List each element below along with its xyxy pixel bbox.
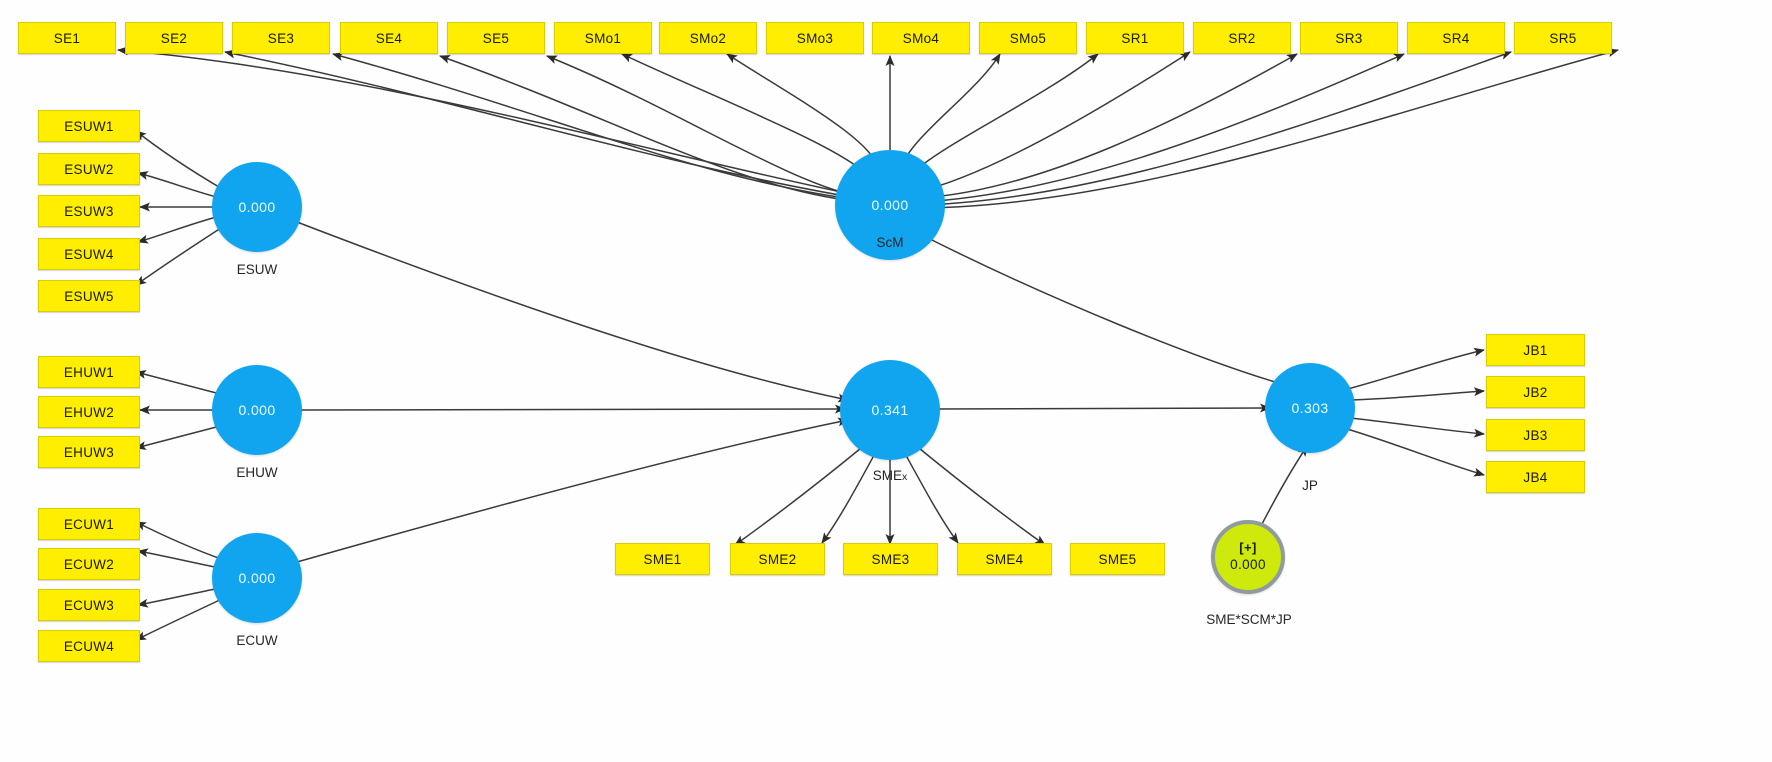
indicator-box[interactable]: SR1 — [1086, 22, 1184, 54]
latent-label-ehuw: EHUW — [202, 465, 312, 480]
indicator-label: SME4 — [986, 552, 1024, 567]
latent-label-esuw: ESUW — [202, 262, 312, 277]
latent-label-smex: SMEx — [835, 468, 945, 483]
indicator-label: SR5 — [1549, 31, 1576, 46]
indicator-label: ECUW2 — [64, 557, 114, 572]
indicator-label: SE1 — [54, 31, 80, 46]
indicator-label: ESUW2 — [64, 162, 114, 177]
latent-name: ECUW — [236, 633, 277, 648]
indicator-label: EHUW2 — [64, 405, 114, 420]
indicator-label: SR1 — [1121, 31, 1148, 46]
latent-name: EHUW — [236, 465, 277, 480]
indicator-box[interactable]: JB3 — [1486, 419, 1585, 451]
indicator-box[interactable]: ECUW3 — [38, 589, 140, 621]
moderator-label: SME*SCM*JP — [1164, 612, 1334, 627]
indicator-box[interactable]: ECUW2 — [38, 548, 140, 580]
latent-value: 0.303 — [1291, 400, 1328, 416]
indicator-label: ESUW4 — [64, 247, 114, 262]
indicator-box[interactable]: EHUW2 — [38, 396, 140, 428]
indicator-label: SR3 — [1335, 31, 1362, 46]
indicator-label: SME1 — [644, 552, 682, 567]
indicator-label: ESUW3 — [64, 204, 114, 219]
indicator-label: SME3 — [872, 552, 910, 567]
latent-node-ecuw[interactable]: 0.000 — [212, 533, 302, 623]
indicator-label: ECUW1 — [64, 517, 114, 532]
indicator-label: SE3 — [268, 31, 294, 46]
indicator-box[interactable]: SMo4 — [872, 22, 970, 54]
moderator-value: 0.000 — [1230, 557, 1266, 573]
indicator-label: EHUW1 — [64, 365, 114, 380]
indicator-label: EHUW3 — [64, 445, 114, 460]
indicator-box[interactable]: JB4 — [1486, 461, 1585, 493]
moderator-node[interactable]: [+] 0.000 — [1211, 520, 1285, 594]
latent-label-ecuw: ECUW — [202, 633, 312, 648]
indicator-box[interactable]: SMo2 — [659, 22, 757, 54]
latent-value: 0.341 — [871, 402, 908, 418]
indicator-box[interactable]: SME4 — [957, 543, 1052, 575]
indicator-label: SR4 — [1442, 31, 1469, 46]
indicator-box[interactable]: SR5 — [1514, 22, 1612, 54]
latent-node-ehuw[interactable]: 0.000 — [212, 365, 302, 455]
latent-label-jp: JP — [1255, 478, 1365, 493]
indicator-box[interactable]: SE5 — [447, 22, 545, 54]
latent-value: 0.000 — [238, 199, 275, 215]
indicator-box[interactable]: EHUW3 — [38, 436, 140, 468]
indicator-label: SME2 — [759, 552, 797, 567]
indicator-label: SME5 — [1099, 552, 1137, 567]
indicator-label: JB2 — [1523, 385, 1547, 400]
indicator-label: ECUW4 — [64, 639, 114, 654]
indicator-box[interactable]: SE3 — [232, 22, 330, 54]
latent-node-smex[interactable]: 0.341 — [840, 360, 940, 460]
latent-name: SME — [873, 468, 902, 483]
moderator-sign: [+] — [1239, 541, 1256, 556]
indicator-label: SE5 — [483, 31, 509, 46]
indicator-box[interactable]: SMo3 — [766, 22, 864, 54]
indicator-label: JB3 — [1523, 428, 1547, 443]
indicator-label: SMo1 — [585, 31, 621, 46]
indicator-box[interactable]: SR3 — [1300, 22, 1398, 54]
indicator-box[interactable]: SMo1 — [554, 22, 652, 54]
indicator-box[interactable]: EHUW1 — [38, 356, 140, 388]
indicator-box[interactable]: SR4 — [1407, 22, 1505, 54]
latent-node-esuw[interactable]: 0.000 — [212, 162, 302, 252]
indicator-box[interactable]: ESUW4 — [38, 238, 140, 270]
indicator-box[interactable]: SME3 — [843, 543, 938, 575]
indicator-label: SMo4 — [903, 31, 939, 46]
indicator-box[interactable]: JB2 — [1486, 376, 1585, 408]
indicator-label: SMo5 — [1010, 31, 1046, 46]
indicator-box[interactable]: SMo5 — [979, 22, 1077, 54]
indicator-box[interactable]: SE2 — [125, 22, 223, 54]
indicator-label: JB1 — [1523, 343, 1547, 358]
latent-label-scm: ScM — [835, 235, 945, 250]
indicator-box[interactable]: ESUW2 — [38, 153, 140, 185]
indicator-box[interactable]: SE1 — [18, 22, 116, 54]
indicator-box[interactable]: SME5 — [1070, 543, 1165, 575]
latent-value: 0.000 — [238, 402, 275, 418]
indicator-label: SE4 — [376, 31, 402, 46]
indicator-box[interactable]: SE4 — [340, 22, 438, 54]
moderator-name: SME*SCM*JP — [1206, 612, 1292, 627]
indicator-box[interactable]: ESUW1 — [38, 110, 140, 142]
indicator-label: SE2 — [161, 31, 187, 46]
indicator-label: JB4 — [1523, 470, 1547, 485]
latent-name: ESUW — [237, 262, 278, 277]
indicator-label: ECUW3 — [64, 598, 114, 613]
latent-value: 0.000 — [238, 570, 275, 586]
indicator-box[interactable]: ESUW5 — [38, 280, 140, 312]
indicator-box[interactable]: SME1 — [615, 543, 710, 575]
latent-name: ScM — [877, 235, 904, 250]
indicator-box[interactable]: JB1 — [1486, 334, 1585, 366]
indicator-label: ESUW1 — [64, 119, 114, 134]
latent-name: JP — [1302, 478, 1318, 493]
sem-diagram-canvas: SE1 SE2 SE3 SE4 SE5 SMo1 SMo2 SMo3 SMo4 … — [0, 0, 1772, 762]
indicator-box[interactable]: ESUW3 — [38, 195, 140, 227]
latent-node-jp[interactable]: 0.303 — [1265, 363, 1355, 453]
indicator-box[interactable]: ECUW4 — [38, 630, 140, 662]
indicator-box[interactable]: ECUW1 — [38, 508, 140, 540]
indicator-box[interactable]: SME2 — [730, 543, 825, 575]
indicator-label: SMo2 — [690, 31, 726, 46]
latent-name-subscript: x — [902, 471, 907, 483]
latent-value: 0.000 — [871, 197, 908, 213]
indicator-box[interactable]: SR2 — [1193, 22, 1291, 54]
indicator-label: SMo3 — [797, 31, 833, 46]
indicator-label: ESUW5 — [64, 289, 114, 304]
indicator-label: SR2 — [1228, 31, 1255, 46]
